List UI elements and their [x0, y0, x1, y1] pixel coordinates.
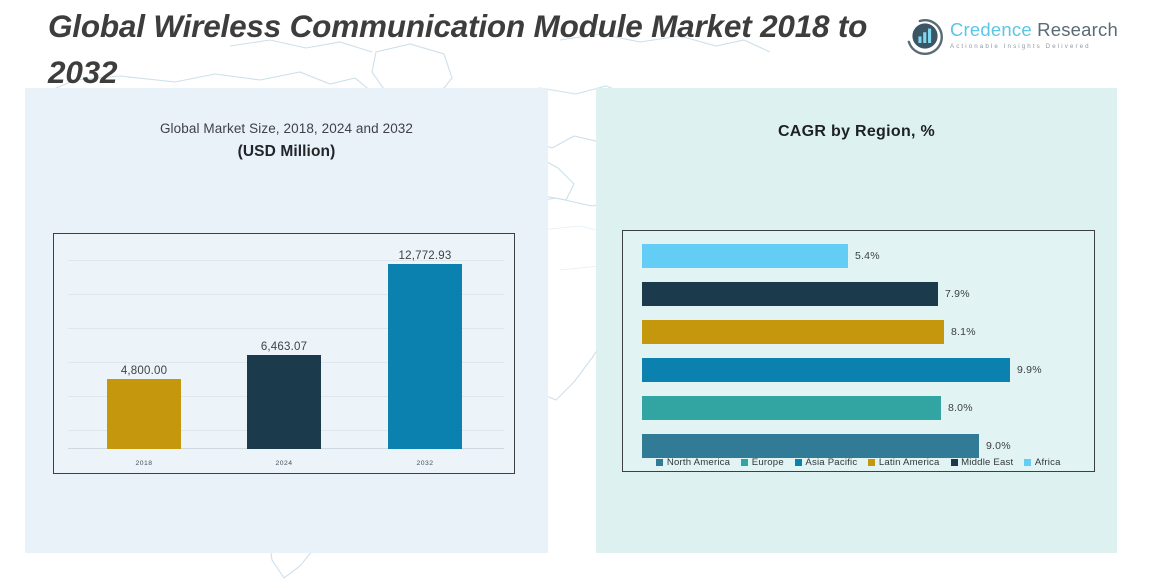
legend-label-middle-east: Middle East [961, 457, 1013, 468]
bar-category-2032: 2032 [383, 460, 467, 467]
page-title: Global Wireless Communication Module Mar… [48, 4, 908, 95]
legend-item-africa[interactable]: Africa [1024, 457, 1060, 468]
cagr-value-latin-america: 8.1% [951, 326, 976, 338]
cagr-bar-middle-east[interactable] [642, 282, 938, 306]
vertical-bars: 4,800.00 2018 6,463.07 2024 12,772.93 20… [54, 234, 514, 473]
brand-name-secondary: Research [1037, 19, 1118, 40]
bar-2018[interactable] [107, 379, 181, 449]
legend-swatch-middle-east [951, 459, 958, 466]
legend-item-latin-america[interactable]: Latin America [868, 457, 939, 468]
brand-tagline: Actionable Insights Delivered [950, 43, 1110, 50]
legend-item-north-america[interactable]: North America [656, 457, 730, 468]
cagr-row-europe: 8.0% [642, 396, 1082, 420]
cagr-row-latin-america: 8.1% [642, 320, 1082, 344]
cagr-row-north-america: 9.0% [642, 434, 1082, 458]
legend-label-europe: Europe [752, 457, 784, 468]
legend-swatch-north-america [656, 459, 663, 466]
bar-chart-circle-icon [906, 18, 944, 56]
legend-label-africa: Africa [1035, 457, 1061, 468]
right-chart-title: CAGR by Region, % [596, 123, 1117, 141]
infographic-canvas: Global Wireless Communication Module Mar… [0, 0, 1152, 587]
legend-item-europe[interactable]: Europe [741, 457, 784, 468]
cagr-bar-latin-america[interactable] [642, 320, 944, 344]
bar-category-2024: 2024 [242, 460, 326, 467]
bar-value-2024: 6,463.07 [242, 341, 326, 353]
market-size-bar-chart: 4,800.00 2018 6,463.07 2024 12,772.93 20… [53, 233, 515, 474]
cagr-row-middle-east: 7.9% [642, 282, 1082, 306]
bar-value-2018: 4,800.00 [102, 365, 186, 377]
legend-label-north-america: North America [667, 457, 730, 468]
legend-swatch-africa [1024, 459, 1031, 466]
bar-value-2032: 12,772.93 [383, 250, 467, 262]
cagr-row-asia-pacific: 9.9% [642, 358, 1082, 382]
cagr-value-north-america: 9.0% [986, 440, 1011, 452]
legend-label-asia-pacific: Asia Pacific [805, 457, 857, 468]
cagr-value-asia-pacific: 9.9% [1017, 364, 1042, 376]
brand-name-primary: Credence [950, 19, 1032, 40]
cagr-bar-chart: 5.4% 7.9% 8.1% 9.9% [622, 230, 1095, 472]
cagr-value-africa: 5.4% [855, 250, 880, 262]
left-chart-title: Global Market Size, 2018, 2024 and 2032 [25, 121, 548, 136]
legend-swatch-asia-pacific [795, 459, 802, 466]
brand-logo-text: Credence Research Actionable Insights De… [950, 19, 1110, 50]
bar-2024[interactable] [247, 355, 321, 449]
legend-swatch-europe [741, 459, 748, 466]
legend-label-latin-america: Latin America [879, 457, 940, 468]
cagr-row-africa: 5.4% [642, 244, 1082, 268]
legend-item-asia-pacific[interactable]: Asia Pacific [795, 457, 858, 468]
left-panel-market-size: Global Market Size, 2018, 2024 and 2032 … [25, 88, 548, 553]
legend-item-middle-east[interactable]: Middle East [951, 457, 1014, 468]
brand-logo[interactable]: Credence Research Actionable Insights De… [906, 16, 1106, 64]
cagr-bar-europe[interactable] [642, 396, 941, 420]
brand-name: Credence Research [950, 19, 1110, 41]
cagr-bar-north-america[interactable] [642, 434, 979, 458]
cagr-value-europe: 8.0% [948, 402, 973, 414]
legend-swatch-latin-america [868, 459, 875, 466]
bar-2032[interactable] [388, 264, 462, 449]
cagr-bar-asia-pacific[interactable] [642, 358, 1010, 382]
cagr-legend: North America Europe Asia Pacific Latin … [623, 457, 1094, 468]
cagr-bar-africa[interactable] [642, 244, 848, 268]
header: Global Wireless Communication Module Mar… [0, 0, 1152, 88]
right-panel-cagr: CAGR by Region, % 5.4% 7.9% [596, 88, 1117, 553]
bar-category-2018: 2018 [102, 460, 186, 467]
page-title-line-1: Global Wireless Communication Module Mar… [48, 8, 752, 44]
left-chart-subtitle: (USD Million) [25, 143, 548, 161]
cagr-value-middle-east: 7.9% [945, 288, 970, 300]
